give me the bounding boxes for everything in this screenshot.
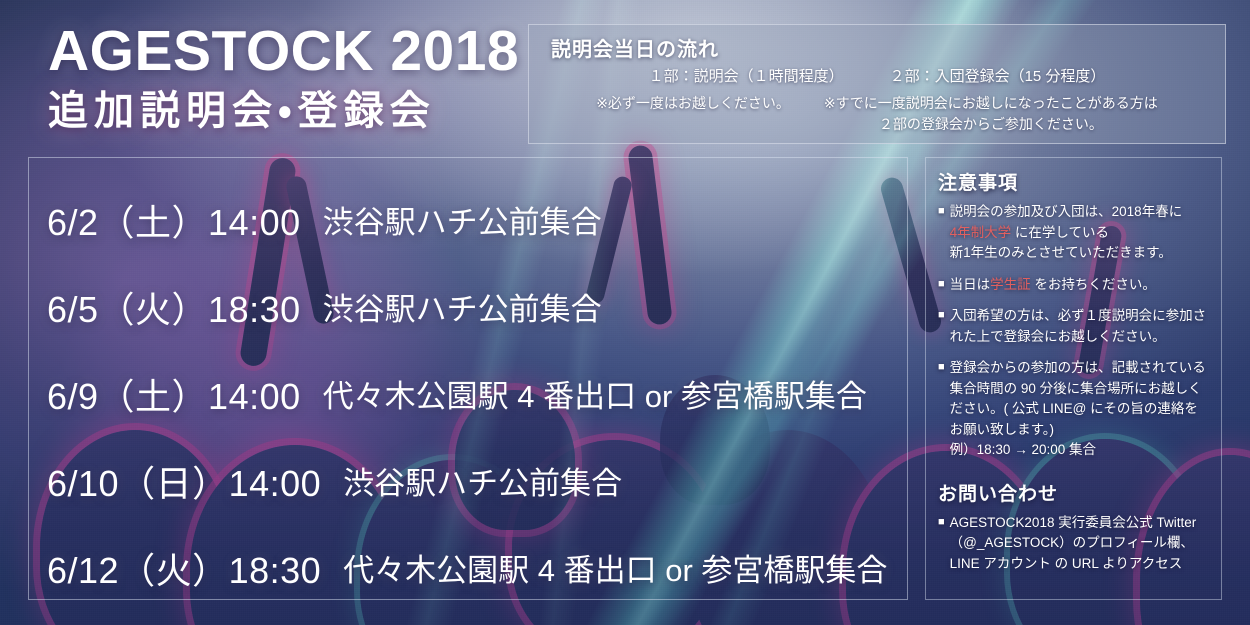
notice-text-post2: 新1年生のみとさせていただきます。 <box>950 245 1172 260</box>
page-title: AGESTOCK 2018 <box>48 22 519 82</box>
flow-part-1: １部：説明会（１時間程度） <box>649 65 844 86</box>
schedule-place: 代々木公園駅 4 番出口 or 参宮橋駅集合 <box>323 371 867 416</box>
flow-note-2-line1: ※すでに一度説明会にお越しになったことがある方は <box>824 95 1158 111</box>
page-subtitle: 追加説明会・登録会 <box>48 86 519 136</box>
schedule-row: 6/5（火）18:30 渋谷駅ハチ公前集合 <box>47 263 907 350</box>
schedule-date: 6/2（土）14:00 <box>47 194 301 246</box>
notice-text-post: をお持ちください。 <box>1031 277 1156 292</box>
title-block: AGESTOCK 2018 追加説明会・登録会 <box>48 22 519 136</box>
schedule-date: 6/10（日）14:00 <box>47 455 321 507</box>
poster-content: AGESTOCK 2018 追加説明会・登録会 説明会当日の流れ １部：説明会（… <box>0 0 1250 625</box>
notice-item-text: 当日は学生証 をお持ちください。 <box>950 275 1209 296</box>
flow-info-box: 説明会当日の流れ １部：説明会（１時間程度） ２部：入団登録会（15 分程度） … <box>528 24 1226 144</box>
flow-note-2: ※すでに一度説明会にお越しになったことがある方は ２部の登録会からご参加ください… <box>824 93 1158 135</box>
schedule-place: 渋谷駅ハチ公前集合 <box>323 284 602 329</box>
flow-notes-row: ※必ず一度はお越しください。 ※すでに一度説明会にお越しになったことがある方は … <box>529 93 1225 135</box>
notice-item: ■ 登録会からの参加の方は、記載されている集合時間の 90 分後に集合場所にお越… <box>938 358 1209 461</box>
schedule-date: 6/9（土）14:00 <box>47 368 301 420</box>
notice-panel: 注意事項 ■ 説明会の参加及び入団は、2018年春に 4年制大学 に在学している… <box>925 157 1222 600</box>
notice-text-post: に在学している <box>1011 225 1109 240</box>
square-bullet-icon: ■ <box>938 202 945 264</box>
flow-heading: 説明会当日の流れ <box>551 33 719 62</box>
notice-text-highlight: 4年制大学 <box>950 225 1012 240</box>
notice-item-text: 入団希望の方は、必ず１度説明会に参加された上で登録会にお越しください。 <box>950 306 1209 347</box>
schedule-frame: 6/2（土）14:00 渋谷駅ハチ公前集合 6/5（火）18:30 渋谷駅ハチ公… <box>28 157 908 600</box>
schedule-row: 6/2（土）14:00 渋谷駅ハチ公前集合 <box>47 176 907 263</box>
contact-heading: お問い合わせ <box>938 479 1209 506</box>
notice-item: ■ 入団希望の方は、必ず１度説明会に参加された上で登録会にお越しください。 <box>938 306 1209 347</box>
square-bullet-icon: ■ <box>938 358 945 461</box>
contact-item: ■ AGESTOCK2018 実行委員会公式 Twitter（@_AGESTOC… <box>938 513 1209 575</box>
square-bullet-icon: ■ <box>938 275 945 296</box>
notice-item: ■ 説明会の参加及び入団は、2018年春に 4年制大学 に在学している 新1年生… <box>938 202 1209 264</box>
schedule-row: 6/9（土）14:00 代々木公園駅 4 番出口 or 参宮橋駅集合 <box>47 350 907 437</box>
poster-canvas: AGESTOCK 2018 追加説明会・登録会 説明会当日の流れ １部：説明会（… <box>0 0 1250 625</box>
flow-parts-row: １部：説明会（１時間程度） ２部：入団登録会（15 分程度） <box>529 65 1225 86</box>
flow-note-1: ※必ず一度はお越しください。 <box>596 93 790 135</box>
schedule-date: 6/12（火）18:30 <box>47 542 321 594</box>
notice-text-pre: 当日は <box>950 277 991 292</box>
schedule-list: 6/2（土）14:00 渋谷駅ハチ公前集合 6/5（火）18:30 渋谷駅ハチ公… <box>29 158 907 599</box>
schedule-date: 6/5（火）18:30 <box>47 281 301 333</box>
contact-item-text: AGESTOCK2018 実行委員会公式 Twitter（@_AGESTOCK）… <box>950 513 1209 575</box>
schedule-row: 6/12（火）18:30 代々木公園駅 4 番出口 or 参宮橋駅集合 <box>47 524 907 611</box>
notice-heading: 注意事項 <box>938 168 1209 195</box>
square-bullet-icon: ■ <box>938 306 945 347</box>
notice-text-highlight: 学生証 <box>990 277 1031 292</box>
schedule-place: 渋谷駅ハチ公前集合 <box>343 458 622 503</box>
flow-part-2: ２部：入団登録会（15 分程度） <box>890 65 1106 86</box>
schedule-place: 渋谷駅ハチ公前集合 <box>323 197 602 242</box>
notice-item: ■ 当日は学生証 をお持ちください。 <box>938 275 1209 296</box>
schedule-row: 6/10（日）14:00 渋谷駅ハチ公前集合 <box>47 437 907 524</box>
notice-text-pre: 説明会の参加及び入団は、2018年春に <box>950 204 1183 219</box>
schedule-place: 代々木公園駅 4 番出口 or 参宮橋駅集合 <box>343 545 887 590</box>
square-bullet-icon: ■ <box>938 513 945 575</box>
flow-note-2-line2: ２部の登録会からご参加ください。 <box>879 116 1103 132</box>
notice-item-text: 登録会からの参加の方は、記載されている集合時間の 90 分後に集合場所にお越しく… <box>950 358 1209 461</box>
notice-item-text: 説明会の参加及び入団は、2018年春に 4年制大学 に在学している 新1年生のみ… <box>950 202 1209 264</box>
